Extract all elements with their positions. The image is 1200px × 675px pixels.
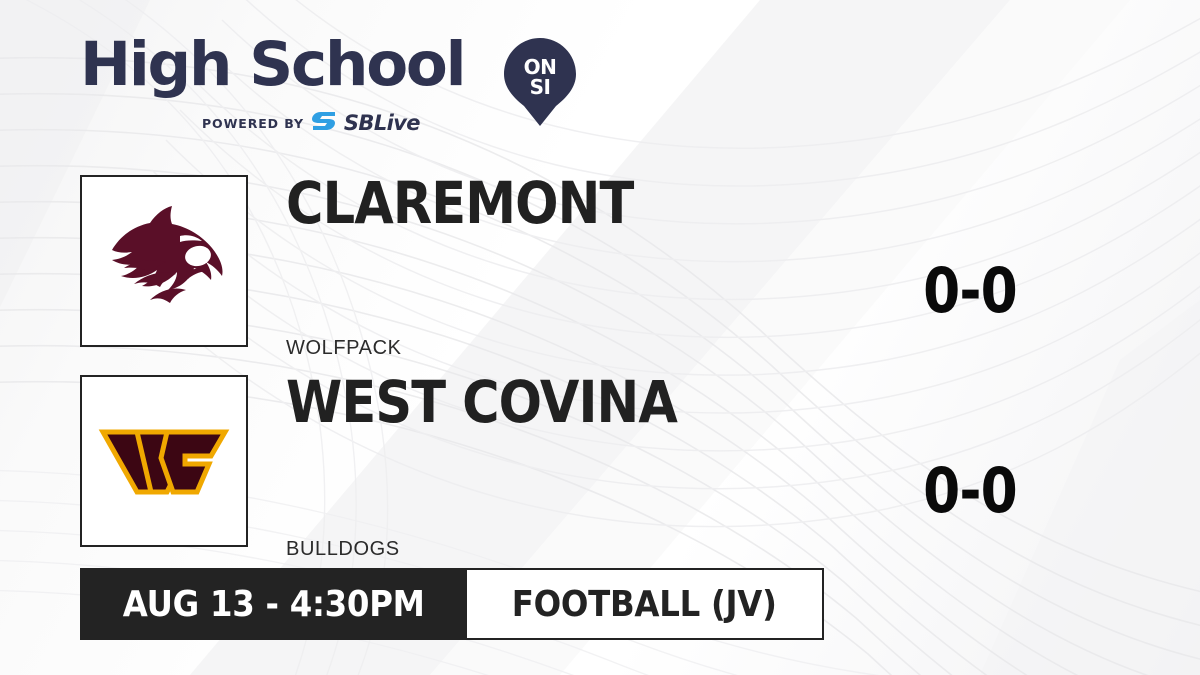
sblive-s-icon bbox=[311, 110, 337, 137]
pin-text-si: SI bbox=[530, 75, 551, 99]
team-record-1: 0-0 bbox=[893, 260, 1048, 322]
brand-header: High School ON SI POWERED BY SBLive bbox=[80, 34, 600, 134]
team-name-1: CLAREMONT bbox=[286, 174, 633, 232]
game-sport-block: FOOTBALL (JV) bbox=[467, 568, 823, 640]
team-name-2: WEST COVINA bbox=[286, 373, 677, 431]
sblive-wordmark: SBLive bbox=[344, 113, 420, 134]
game-datetime-text: AUG 13 - 4:30PM bbox=[123, 584, 425, 625]
powered-by-label: POWERED BY bbox=[202, 116, 304, 131]
west-covina-bulldogs-logo bbox=[93, 406, 235, 516]
team-mascot-2: BULLDOGS bbox=[286, 538, 400, 561]
game-info-bar: AUG 13 - 4:30PM FOOTBALL (JV) bbox=[80, 568, 824, 640]
claremont-wolfpack-logo bbox=[94, 196, 234, 326]
onsi-pin-icon: ON SI bbox=[502, 36, 578, 128]
powered-by-lockup: POWERED BY SBLive bbox=[202, 110, 420, 137]
game-datetime-block: AUG 13 - 4:30PM bbox=[80, 568, 467, 640]
brand-wordmark: High School bbox=[80, 34, 464, 95]
team-logo-box-2 bbox=[80, 375, 248, 547]
game-sport-text: FOOTBALL (JV) bbox=[512, 584, 777, 625]
team-mascot-1: WOLFPACK bbox=[286, 337, 402, 360]
team-logo-box-1 bbox=[80, 175, 248, 347]
scoreboard-graphic: High School ON SI POWERED BY SBLive bbox=[0, 0, 1200, 675]
team-record-2: 0-0 bbox=[893, 460, 1048, 522]
